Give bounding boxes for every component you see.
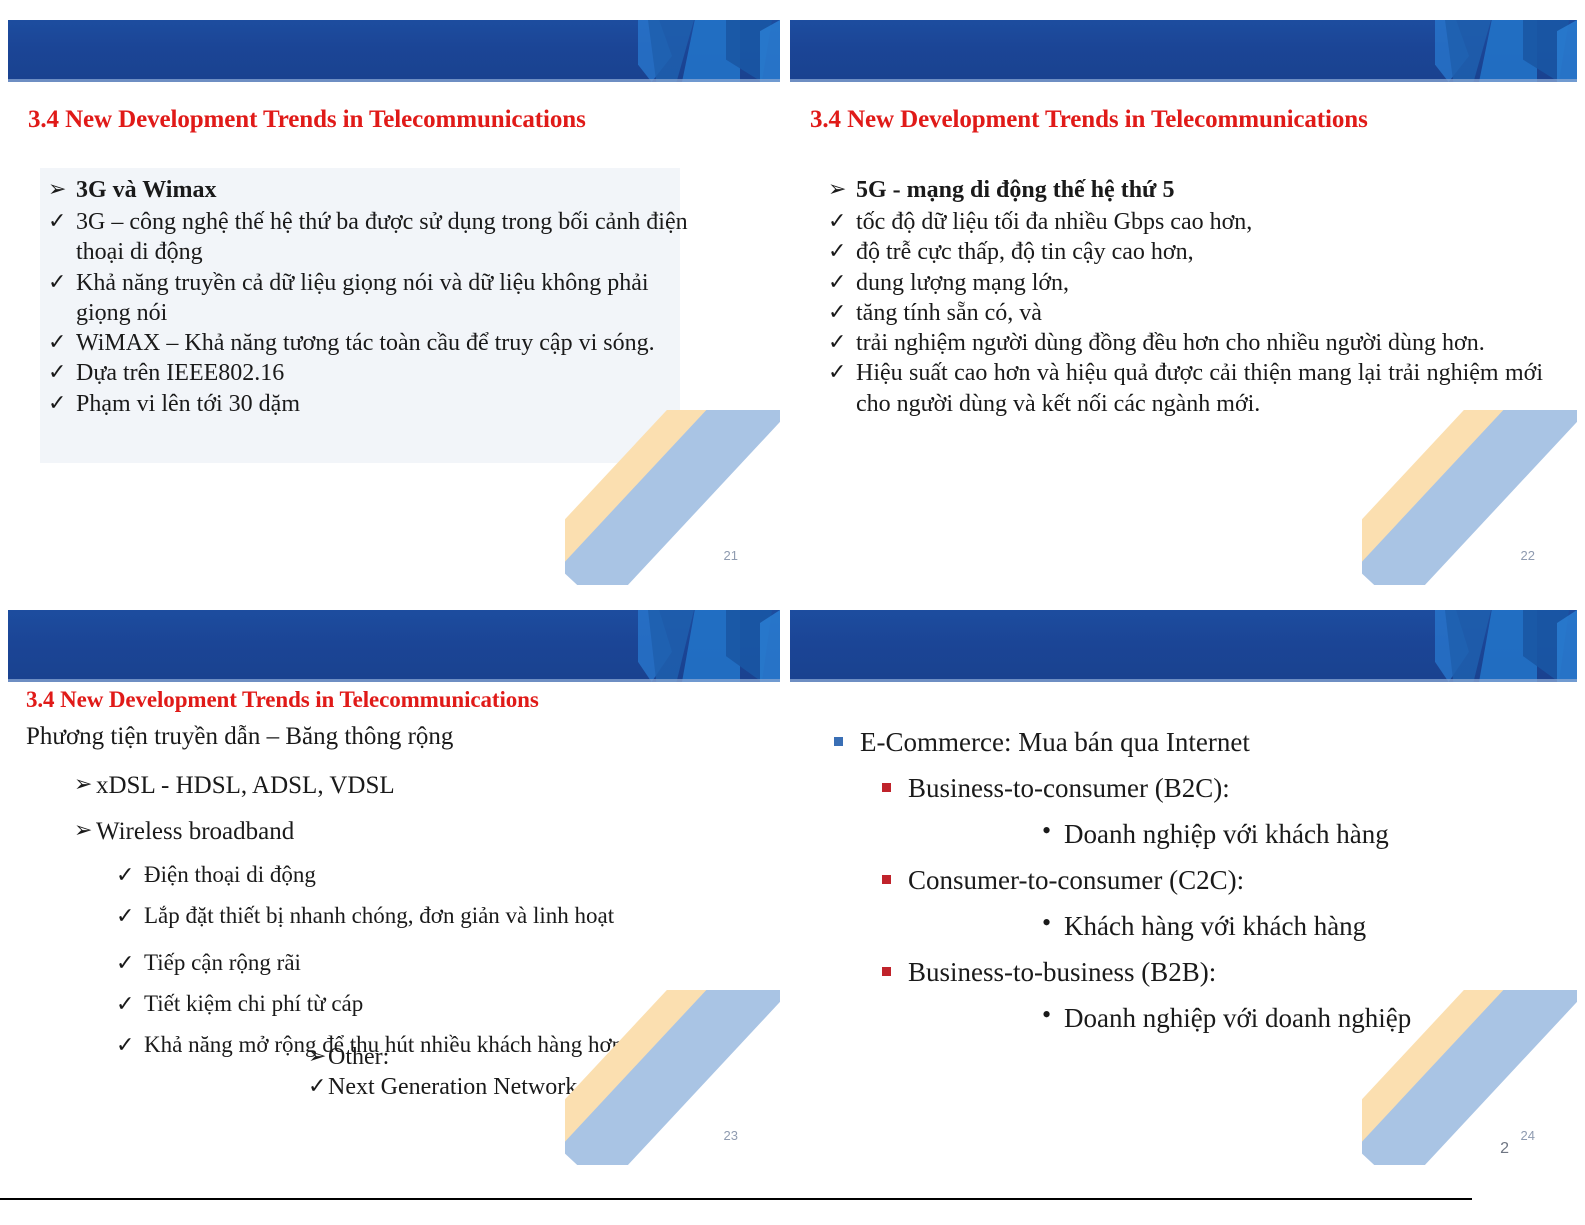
list-item-label: Dựa trên IEEE802.16 bbox=[76, 358, 688, 388]
list-item: ➢ 3G và Wimax bbox=[48, 175, 688, 205]
dot-bullet-icon: • bbox=[1042, 817, 1064, 846]
list-item-label: Next Generation Network, Voip, IPV6 bbox=[328, 1072, 768, 1102]
list-item: ✓ trải nghiệm người dùng đồng đều hơn ch… bbox=[828, 328, 1543, 358]
list-item-label: 5G - mạng di động thế hệ thứ 5 bbox=[856, 175, 1543, 205]
slide-header-band bbox=[8, 20, 780, 82]
check-bullet-icon: ✓ bbox=[828, 207, 856, 235]
list-item: ➢ Wireless broadband bbox=[74, 816, 774, 848]
list-item: ✓ Tiếp cận rộng rãi bbox=[116, 949, 774, 978]
dot-bullet-icon: • bbox=[1042, 1001, 1064, 1030]
slide-page-number: 23 bbox=[724, 1128, 738, 1143]
check-bullet-icon: ✓ bbox=[48, 389, 76, 417]
slide-21: 3.4 New Development Trends in Telecommun… bbox=[8, 20, 780, 585]
list-item-label: Hiệu suất cao hơn và hiệu quả được cải t… bbox=[856, 358, 1543, 418]
list-item-label: Other: bbox=[328, 1042, 768, 1072]
list-item: ✓ WiMAX – Khả năng tương tác toàn cầu để… bbox=[48, 328, 688, 358]
list-item: ✓ Điện thoại di động bbox=[116, 861, 774, 890]
list-item: • Doanh nghiệp với khách hàng bbox=[1042, 817, 1552, 851]
list-item: ➢ 5G - mạng di động thế hệ thứ 5 bbox=[828, 175, 1543, 205]
bullet-list: ➢ xDSL - HDSL, ADSL, VDSL ➢ Wireless bro… bbox=[74, 770, 774, 1060]
check-bullet-icon: ✓ bbox=[116, 949, 144, 977]
list-item-label: E-Commerce: Mua bán qua Internet bbox=[860, 725, 1552, 759]
list-item-label: Consumer-to-consumer (C2C): bbox=[908, 863, 1552, 897]
list-item: ✓ tăng tính sẵn có, và bbox=[828, 298, 1543, 328]
list-item-label: tốc độ dữ liệu tối đa nhiều Gbps cao hơn… bbox=[856, 207, 1543, 237]
list-item: ✓ Next Generation Network, Voip, IPV6 bbox=[308, 1072, 768, 1102]
slide-page-number: 22 bbox=[1521, 548, 1535, 563]
corner-ribbon-decoration bbox=[1362, 410, 1577, 585]
list-item-label: Doanh nghiệp với khách hàng bbox=[1064, 817, 1552, 851]
list-item: E-Commerce: Mua bán qua Internet bbox=[832, 725, 1552, 759]
list-item-label: 3G và Wimax bbox=[76, 175, 688, 205]
slide-24: E-Commerce: Mua bán qua Internet Busines… bbox=[790, 610, 1577, 1165]
list-item: ✓ Khả năng truyền cả dữ liệu giọng nói v… bbox=[48, 268, 688, 328]
list-item: ➢ Other: bbox=[308, 1042, 768, 1072]
check-bullet-icon: ✓ bbox=[828, 328, 856, 356]
bullet-list: ➢ 5G - mạng di động thế hệ thứ 5 ✓ tốc đ… bbox=[828, 175, 1543, 419]
bullet-list: E-Commerce: Mua bán qua Internet Busines… bbox=[832, 725, 1552, 1035]
check-bullet-icon: ✓ bbox=[308, 1072, 328, 1100]
dot-bullet-icon: • bbox=[1042, 909, 1064, 938]
list-item-label: 3G – công nghệ thế hệ thứ ba được sử dụn… bbox=[76, 207, 688, 267]
check-bullet-icon: ✓ bbox=[48, 207, 76, 235]
slide-page-number: 24 bbox=[1521, 1128, 1535, 1143]
list-item-label: độ trễ cực thấp, độ tin cậy cao hơn, bbox=[856, 237, 1543, 267]
list-item-label: trải nghiệm người dùng đồng đều hơn cho … bbox=[856, 328, 1543, 358]
list-item-label: Tiết kiệm chi phí từ cáp bbox=[144, 990, 774, 1019]
list-item: ✓ độ trễ cực thấp, độ tin cậy cao hơn, bbox=[828, 237, 1543, 267]
list-item: ✓ Hiệu suất cao hơn và hiệu quả được cải… bbox=[828, 358, 1543, 418]
list-item: • Doanh nghiệp với doanh nghiệp bbox=[1042, 1001, 1552, 1035]
other-group: ➢ Other: ✓ Next Generation Network, Voip… bbox=[308, 1042, 768, 1102]
list-item: ✓ Phạm vi lên tới 30 dặm bbox=[48, 389, 688, 419]
slide-header-band bbox=[8, 610, 780, 682]
list-item-label: xDSL - HDSL, ADSL, VDSL bbox=[96, 770, 774, 802]
document-page-number: 2 bbox=[1500, 1140, 1509, 1158]
check-bullet-icon: ✓ bbox=[116, 1031, 144, 1059]
list-item-label: Business-to-consumer (B2C): bbox=[908, 771, 1552, 805]
ribbon-blue-band bbox=[1362, 410, 1577, 585]
list-item: ✓ Lắp đặt thiết bị nhanh chóng, đơn giản… bbox=[116, 902, 774, 931]
slide-page-number: 21 bbox=[724, 548, 738, 563]
list-item-label: WiMAX – Khả năng tương tác toàn cầu để t… bbox=[76, 328, 688, 358]
list-item: Business-to-consumer (B2C): bbox=[880, 771, 1552, 805]
slide-header-band bbox=[790, 610, 1577, 682]
check-bullet-icon: ✓ bbox=[48, 328, 76, 356]
slide-header-band bbox=[790, 20, 1577, 82]
list-item: ✓ dung lượng mạng lớn, bbox=[828, 268, 1543, 298]
list-item: ✓ 3G – công nghệ thế hệ thứ ba được sử d… bbox=[48, 207, 688, 267]
footer-rule bbox=[0, 1198, 1472, 1200]
slide-title: 3.4 New Development Trends in Telecommun… bbox=[26, 687, 539, 713]
arrow-bullet-icon: ➢ bbox=[308, 1042, 328, 1070]
list-item-label: tăng tính sẵn có, và bbox=[856, 298, 1543, 328]
list-item: ✓ Tiết kiệm chi phí từ cáp bbox=[116, 990, 774, 1019]
list-item: ➢ xDSL - HDSL, ADSL, VDSL bbox=[74, 770, 774, 802]
check-bullet-icon: ✓ bbox=[828, 268, 856, 296]
list-item: Business-to-business (B2B): bbox=[880, 955, 1552, 989]
check-bullet-icon: ✓ bbox=[828, 237, 856, 265]
list-item-label: Khách hàng với khách hàng bbox=[1064, 909, 1552, 943]
list-item: ✓ Dựa trên IEEE802.16 bbox=[48, 358, 688, 388]
list-item: Consumer-to-consumer (C2C): bbox=[880, 863, 1552, 897]
lead-text: Phương tiện truyền dẫn – Băng thông rộng bbox=[26, 723, 453, 751]
list-item-label: Tiếp cận rộng rãi bbox=[144, 949, 774, 978]
list-item-label: Lắp đặt thiết bị nhanh chóng, đơn giản v… bbox=[144, 902, 774, 931]
arrow-bullet-icon: ➢ bbox=[74, 816, 96, 844]
list-item-label: dung lượng mạng lớn, bbox=[856, 268, 1543, 298]
check-bullet-icon: ✓ bbox=[828, 358, 856, 386]
slide-title: 3.4 New Development Trends in Telecommun… bbox=[810, 106, 1368, 134]
check-bullet-icon: ✓ bbox=[116, 861, 144, 889]
arrow-bullet-icon: ➢ bbox=[48, 175, 76, 203]
list-item-label: Doanh nghiệp với doanh nghiệp bbox=[1064, 1001, 1552, 1035]
check-bullet-icon: ✓ bbox=[116, 990, 144, 1018]
bullet-list: ➢ 3G và Wimax ✓ 3G – công nghệ thế hệ th… bbox=[48, 175, 688, 419]
check-bullet-icon: ✓ bbox=[116, 902, 144, 930]
slide-23: 3.4 New Development Trends in Telecommun… bbox=[8, 610, 780, 1165]
list-item-label: Điện thoại di động bbox=[144, 861, 774, 890]
list-item-label: Phạm vi lên tới 30 dặm bbox=[76, 389, 688, 419]
slide-22: 3.4 New Development Trends in Telecommun… bbox=[790, 20, 1577, 585]
check-bullet-icon: ✓ bbox=[48, 358, 76, 386]
arrow-bullet-icon: ➢ bbox=[74, 770, 96, 798]
slide-title: 3.4 New Development Trends in Telecommun… bbox=[28, 106, 586, 134]
list-item: ✓ tốc độ dữ liệu tối đa nhiều Gbps cao h… bbox=[828, 207, 1543, 237]
check-bullet-icon: ✓ bbox=[828, 298, 856, 326]
check-bullet-icon: ✓ bbox=[48, 268, 76, 296]
list-item-label: Khả năng truyền cả dữ liệu giọng nói và … bbox=[76, 268, 688, 328]
list-item-label: Wireless broadband bbox=[96, 816, 774, 848]
list-item: • Khách hàng với khách hàng bbox=[1042, 909, 1552, 943]
list-item-label: Business-to-business (B2B): bbox=[908, 955, 1552, 989]
arrow-bullet-icon: ➢ bbox=[828, 175, 856, 203]
